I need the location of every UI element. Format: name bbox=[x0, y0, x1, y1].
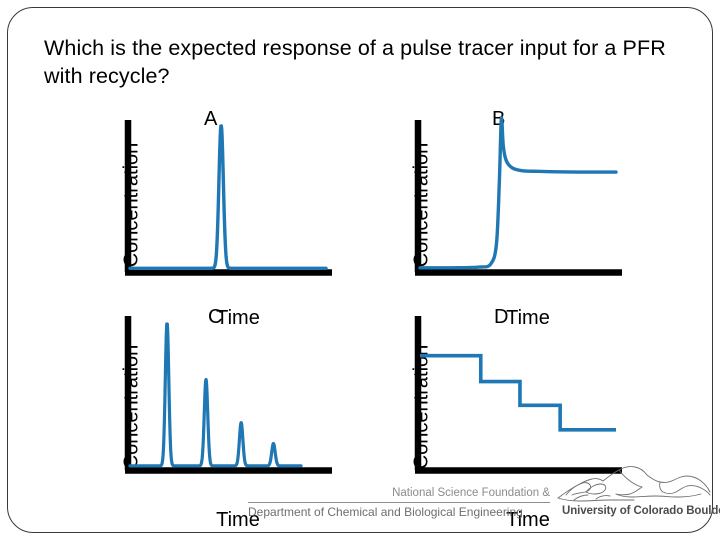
chart-a-plot bbox=[104, 110, 394, 300]
footer-divider bbox=[248, 502, 550, 503]
footer-nsf-text: National Science Foundation & bbox=[248, 487, 550, 499]
footer-department-text: Department of Chemical and Biological En… bbox=[248, 505, 550, 519]
chart-panel-b: B Concentration Time bbox=[394, 110, 684, 300]
slide-canvas: Which is the expected response of a puls… bbox=[0, 0, 720, 540]
chart-panel-a: A Concentration Time bbox=[104, 110, 394, 300]
slide-footer: National Science Foundation & Department… bbox=[0, 486, 720, 532]
page-title: Which is the expected response of a puls… bbox=[44, 34, 684, 90]
chart-c-plot bbox=[104, 312, 394, 502]
chart-a-curve bbox=[130, 126, 326, 268]
chart-c-curve bbox=[130, 324, 301, 466]
chart-b-curve bbox=[420, 118, 616, 268]
footer-university-text: University of Colorado Boulder bbox=[562, 505, 720, 517]
chart-b-plot bbox=[394, 110, 684, 300]
chart-d-curve bbox=[420, 356, 616, 430]
chart-panel-c: C Concentration Time bbox=[104, 312, 394, 502]
flatirons-mountain-icon bbox=[556, 464, 712, 508]
